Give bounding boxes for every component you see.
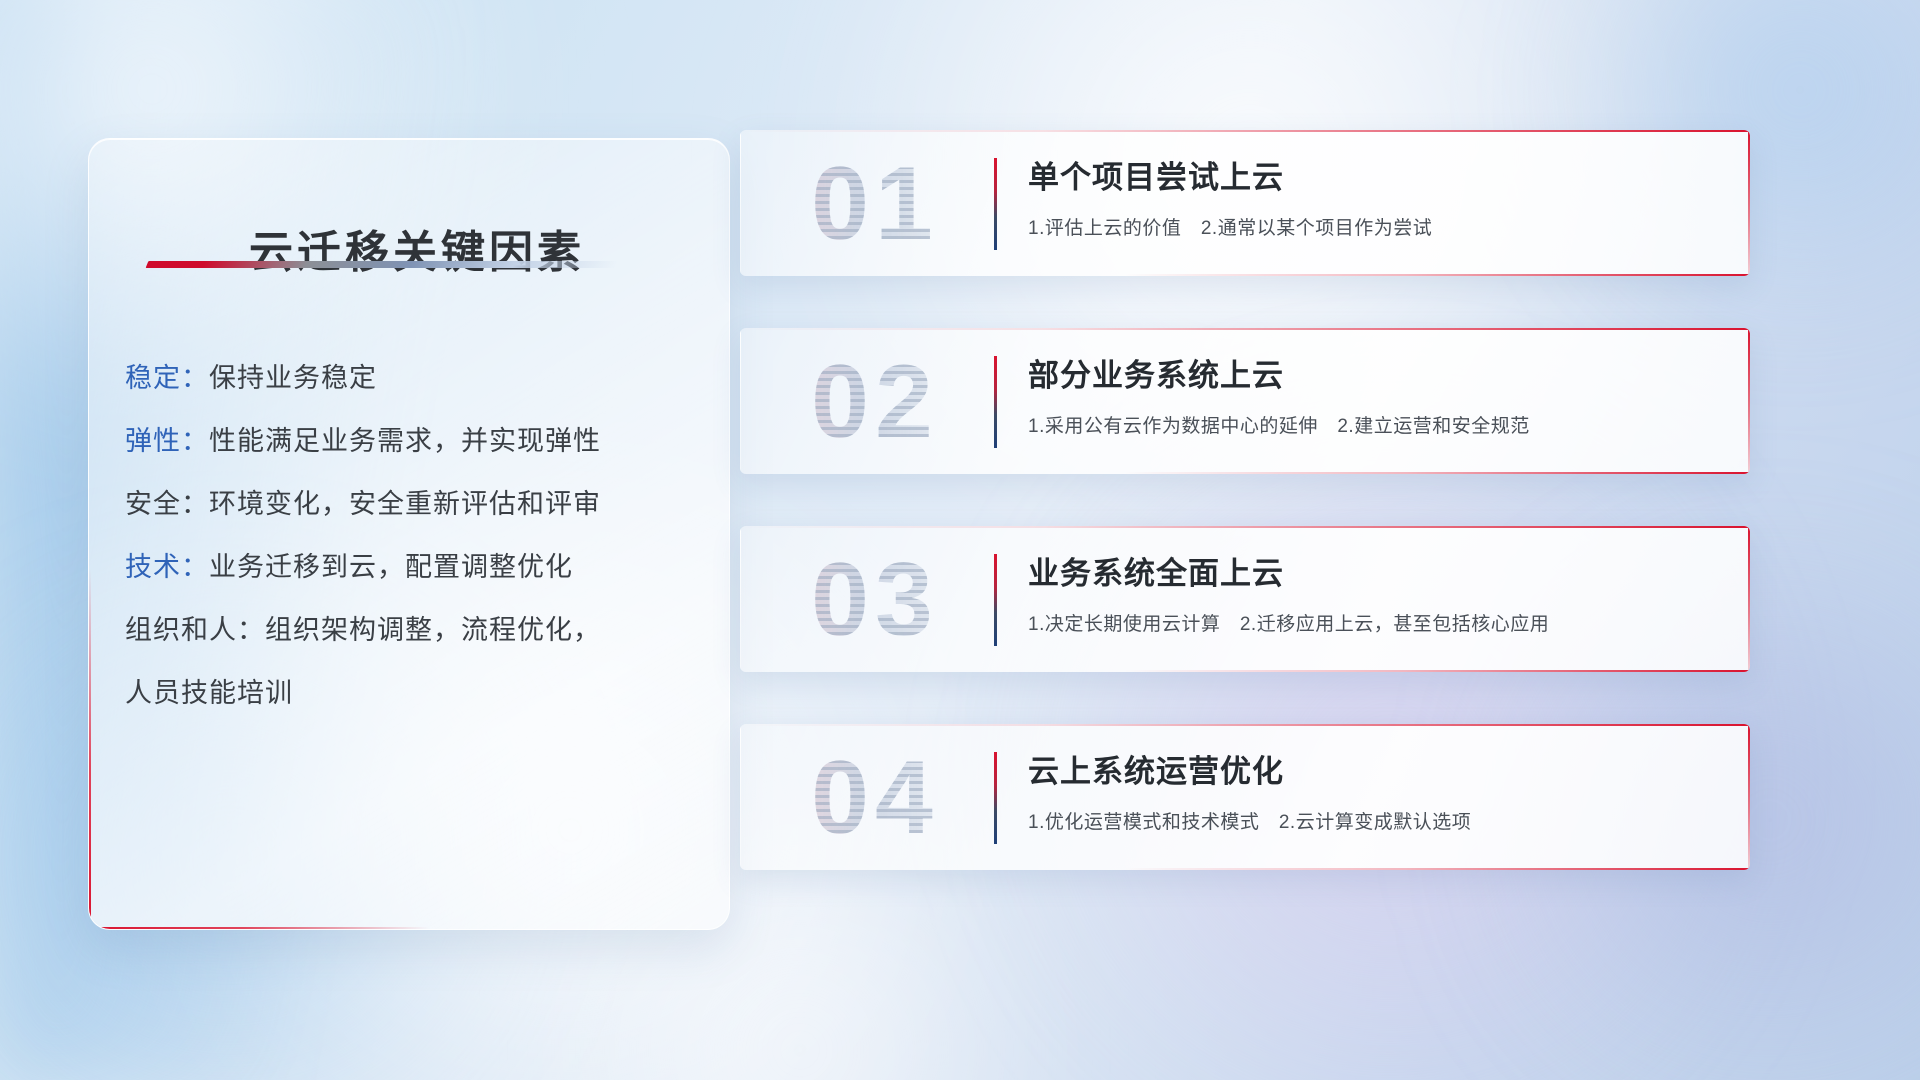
panel-bottom-accent [89, 927, 429, 929]
card-description: 1.评估上云的价值 2.通常以某个项目作为尝试 [1028, 213, 1710, 240]
card-divider [994, 752, 997, 844]
factor-list: 稳定：保持业务稳定弹性：性能满足业务需求，并实现弹性安全：环境变化，安全重新评估… [125, 347, 705, 725]
factor-label: 组织和人： [125, 615, 265, 645]
factor-label: 技术： [125, 552, 209, 582]
key-factors-panel: 云迁移关键因素 稳定：保持业务稳定弹性：性能满足业务需求，并实现弹性安全：环境变… [88, 138, 730, 930]
card-top-accent [740, 328, 1750, 330]
card-left-edge [740, 526, 741, 672]
factor-text: 业务迁移到云，配置调整优化 [209, 552, 573, 582]
factor-label: 稳定： [125, 363, 209, 393]
card-number: 04 [770, 732, 980, 864]
card-title: 单个项目尝试上云 [1028, 152, 1710, 197]
factor-text: 保持业务稳定 [209, 363, 377, 393]
stage-card[interactable]: 01单个项目尝试上云1.评估上云的价值 2.通常以某个项目作为尝试 [740, 130, 1750, 276]
stage-card[interactable]: 03业务系统全面上云1.决定长期使用云计算 2.迁移应用上云，甚至包括核心应用 [740, 526, 1750, 672]
card-divider [994, 356, 997, 448]
card-divider [994, 554, 997, 646]
card-right-accent [1748, 328, 1750, 474]
card-top-accent [740, 724, 1750, 726]
stage-card[interactable]: 02部分业务系统上云1.采用公有云作为数据中心的延伸 2.建立运营和安全规范 [740, 328, 1750, 474]
factor-item: 稳定：保持业务稳定 [125, 347, 705, 410]
card-left-edge [740, 328, 741, 474]
card-number: 02 [770, 336, 980, 468]
card-bottom-accent [1124, 670, 1750, 672]
card-description: 1.决定长期使用云计算 2.迁移应用上云，甚至包括核心应用 [1028, 609, 1710, 636]
factor-text: 性能满足业务需求，并实现弹性 [209, 426, 601, 456]
card-top-accent [740, 526, 1750, 528]
card-bottom-accent [1124, 274, 1750, 276]
stage-card[interactable]: 04云上系统运营优化1.优化运营模式和技术模式 2.云计算变成默认选项 [740, 724, 1750, 870]
card-number: 01 [770, 138, 980, 270]
page-title: 云迁移关键因素 [187, 216, 647, 280]
card-body: 单个项目尝试上云1.评估上云的价值 2.通常以某个项目作为尝试 [1028, 152, 1710, 240]
factor-text: 组织架构调整，流程优化， [265, 615, 601, 645]
card-left-edge [740, 130, 741, 276]
card-right-accent [1748, 724, 1750, 870]
factor-item: 弹性：性能满足业务需求，并实现弹性 [125, 410, 705, 473]
title-underline [146, 261, 619, 268]
factor-label: 弹性： [125, 426, 209, 456]
factor-label: 安全： [125, 489, 209, 519]
card-body: 部分业务系统上云1.采用公有云作为数据中心的延伸 2.建立运营和安全规范 [1028, 350, 1710, 438]
card-description: 1.优化运营模式和技术模式 2.云计算变成默认选项 [1028, 807, 1710, 834]
card-title: 业务系统全面上云 [1028, 548, 1710, 593]
card-top-accent [740, 130, 1750, 132]
stage-card-list: 01单个项目尝试上云1.评估上云的价值 2.通常以某个项目作为尝试02部分业务系… [740, 130, 1750, 922]
card-title: 云上系统运营优化 [1028, 746, 1710, 791]
card-number: 03 [770, 534, 980, 666]
card-divider [994, 158, 997, 250]
panel-left-accent [89, 569, 91, 929]
card-left-edge [740, 724, 741, 870]
card-description: 1.采用公有云作为数据中心的延伸 2.建立运营和安全规范 [1028, 411, 1710, 438]
card-bottom-accent [1124, 472, 1750, 474]
card-body: 业务系统全面上云1.决定长期使用云计算 2.迁移应用上云，甚至包括核心应用 [1028, 548, 1710, 636]
factor-item: 技术：业务迁移到云，配置调整优化 [125, 536, 705, 599]
factor-item: 安全：环境变化，安全重新评估和评审 [125, 473, 705, 536]
factor-continuation: 人员技能培训 [125, 662, 705, 725]
card-title: 部分业务系统上云 [1028, 350, 1710, 395]
card-bottom-accent [1124, 868, 1750, 870]
factor-text: 环境变化，安全重新评估和评审 [209, 489, 601, 519]
card-body: 云上系统运营优化1.优化运营模式和技术模式 2.云计算变成默认选项 [1028, 746, 1710, 834]
card-right-accent [1748, 526, 1750, 672]
factor-item: 组织和人：组织架构调整，流程优化， [125, 599, 705, 662]
card-right-accent [1748, 130, 1750, 276]
